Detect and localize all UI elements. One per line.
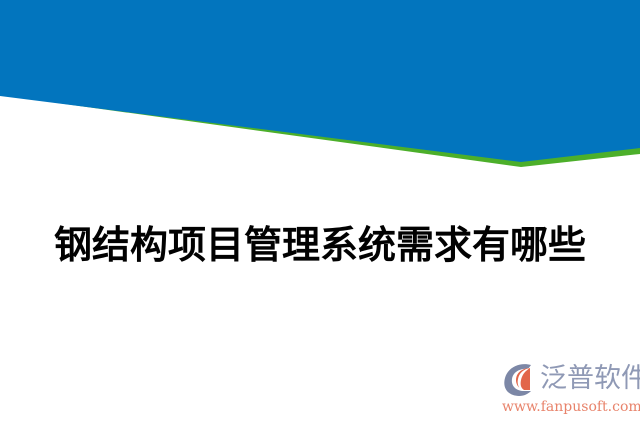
- page-title: 钢结构项目管理系统需求有哪些: [54, 221, 586, 269]
- logo-website-url: www.fanpusoft.com: [502, 399, 640, 416]
- title-block: 钢结构项目管理系统需求有哪些: [0, 196, 640, 295]
- header-banner: [0, 0, 640, 180]
- logo-wordmark: 泛普软件: [540, 364, 640, 394]
- logo-row: 泛普软件: [500, 359, 640, 399]
- slide-canvas: 钢结构项目管理系统需求有哪些 泛普软件 www.fanpusoft.com: [0, 0, 640, 427]
- fanpu-swoosh-icon: [500, 360, 538, 398]
- brand-logo: 泛普软件 www.fanpusoft.com: [500, 359, 632, 421]
